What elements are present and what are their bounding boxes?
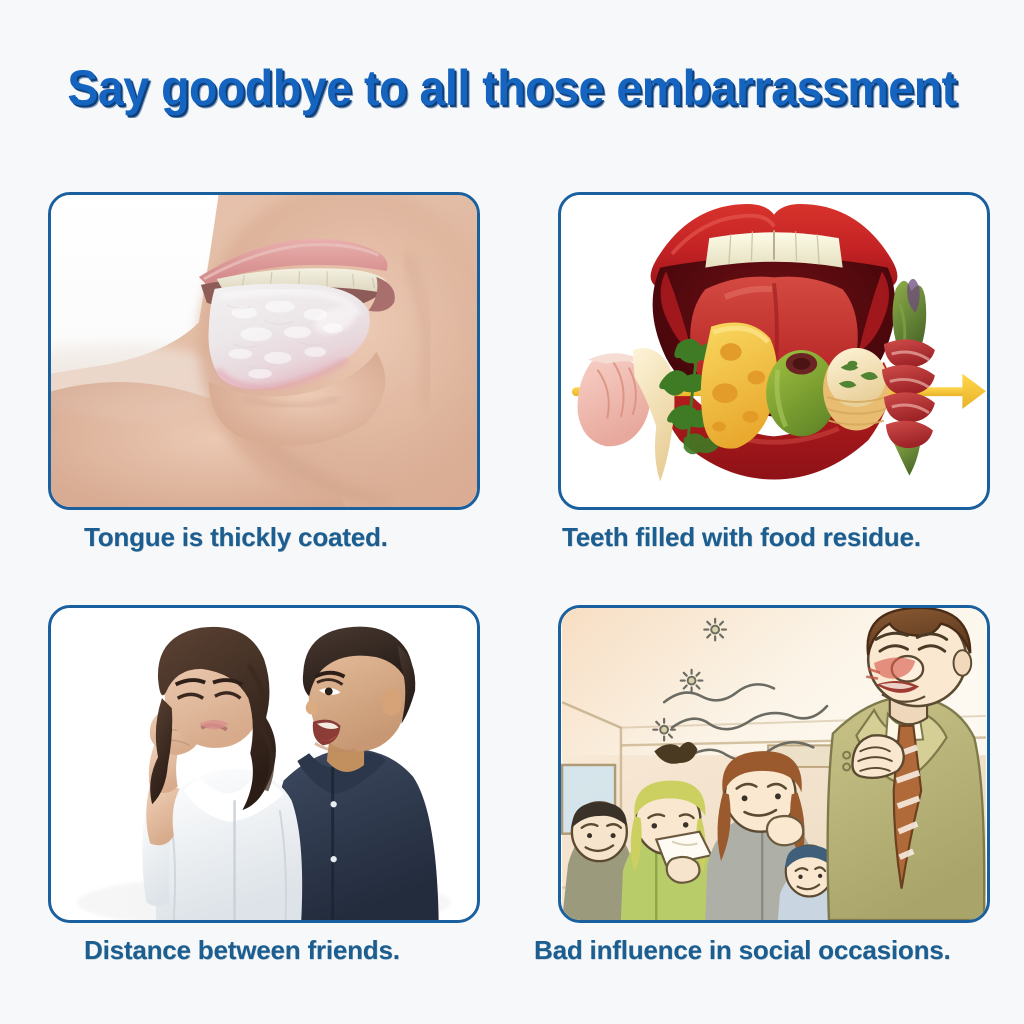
card-food-residue: Teeth filled with food residue.	[558, 192, 990, 510]
card-friend-distance: Distance between friends.	[48, 605, 480, 923]
couple-bad-breath-photo	[51, 608, 477, 920]
card-image-frame-couple	[48, 605, 480, 923]
card-image-frame-tongue	[48, 192, 480, 510]
page-title: Say goodbye to all those embarrassment	[36, 62, 988, 115]
office-bad-breath-cartoon	[561, 608, 987, 920]
mouth-food-skewer-illustration	[561, 195, 987, 507]
card-caption-social-impact: Bad influence in social occasions.	[534, 935, 951, 966]
card-caption-friend-distance: Distance between friends.	[84, 935, 400, 966]
card-social-impact: Bad influence in social occasions.	[558, 605, 990, 923]
embarrassment-card-grid: Tongue is thickly coated.	[48, 192, 990, 982]
card-tongue-coated: Tongue is thickly coated.	[48, 192, 480, 510]
coated-tongue-photo	[51, 195, 477, 507]
card-caption-food-residue: Teeth filled with food residue.	[562, 522, 921, 553]
bread-piece	[823, 348, 890, 430]
card-image-frame-food	[558, 192, 990, 510]
card-image-frame-office	[558, 605, 990, 923]
card-caption-tongue-coated: Tongue is thickly coated.	[84, 522, 388, 553]
